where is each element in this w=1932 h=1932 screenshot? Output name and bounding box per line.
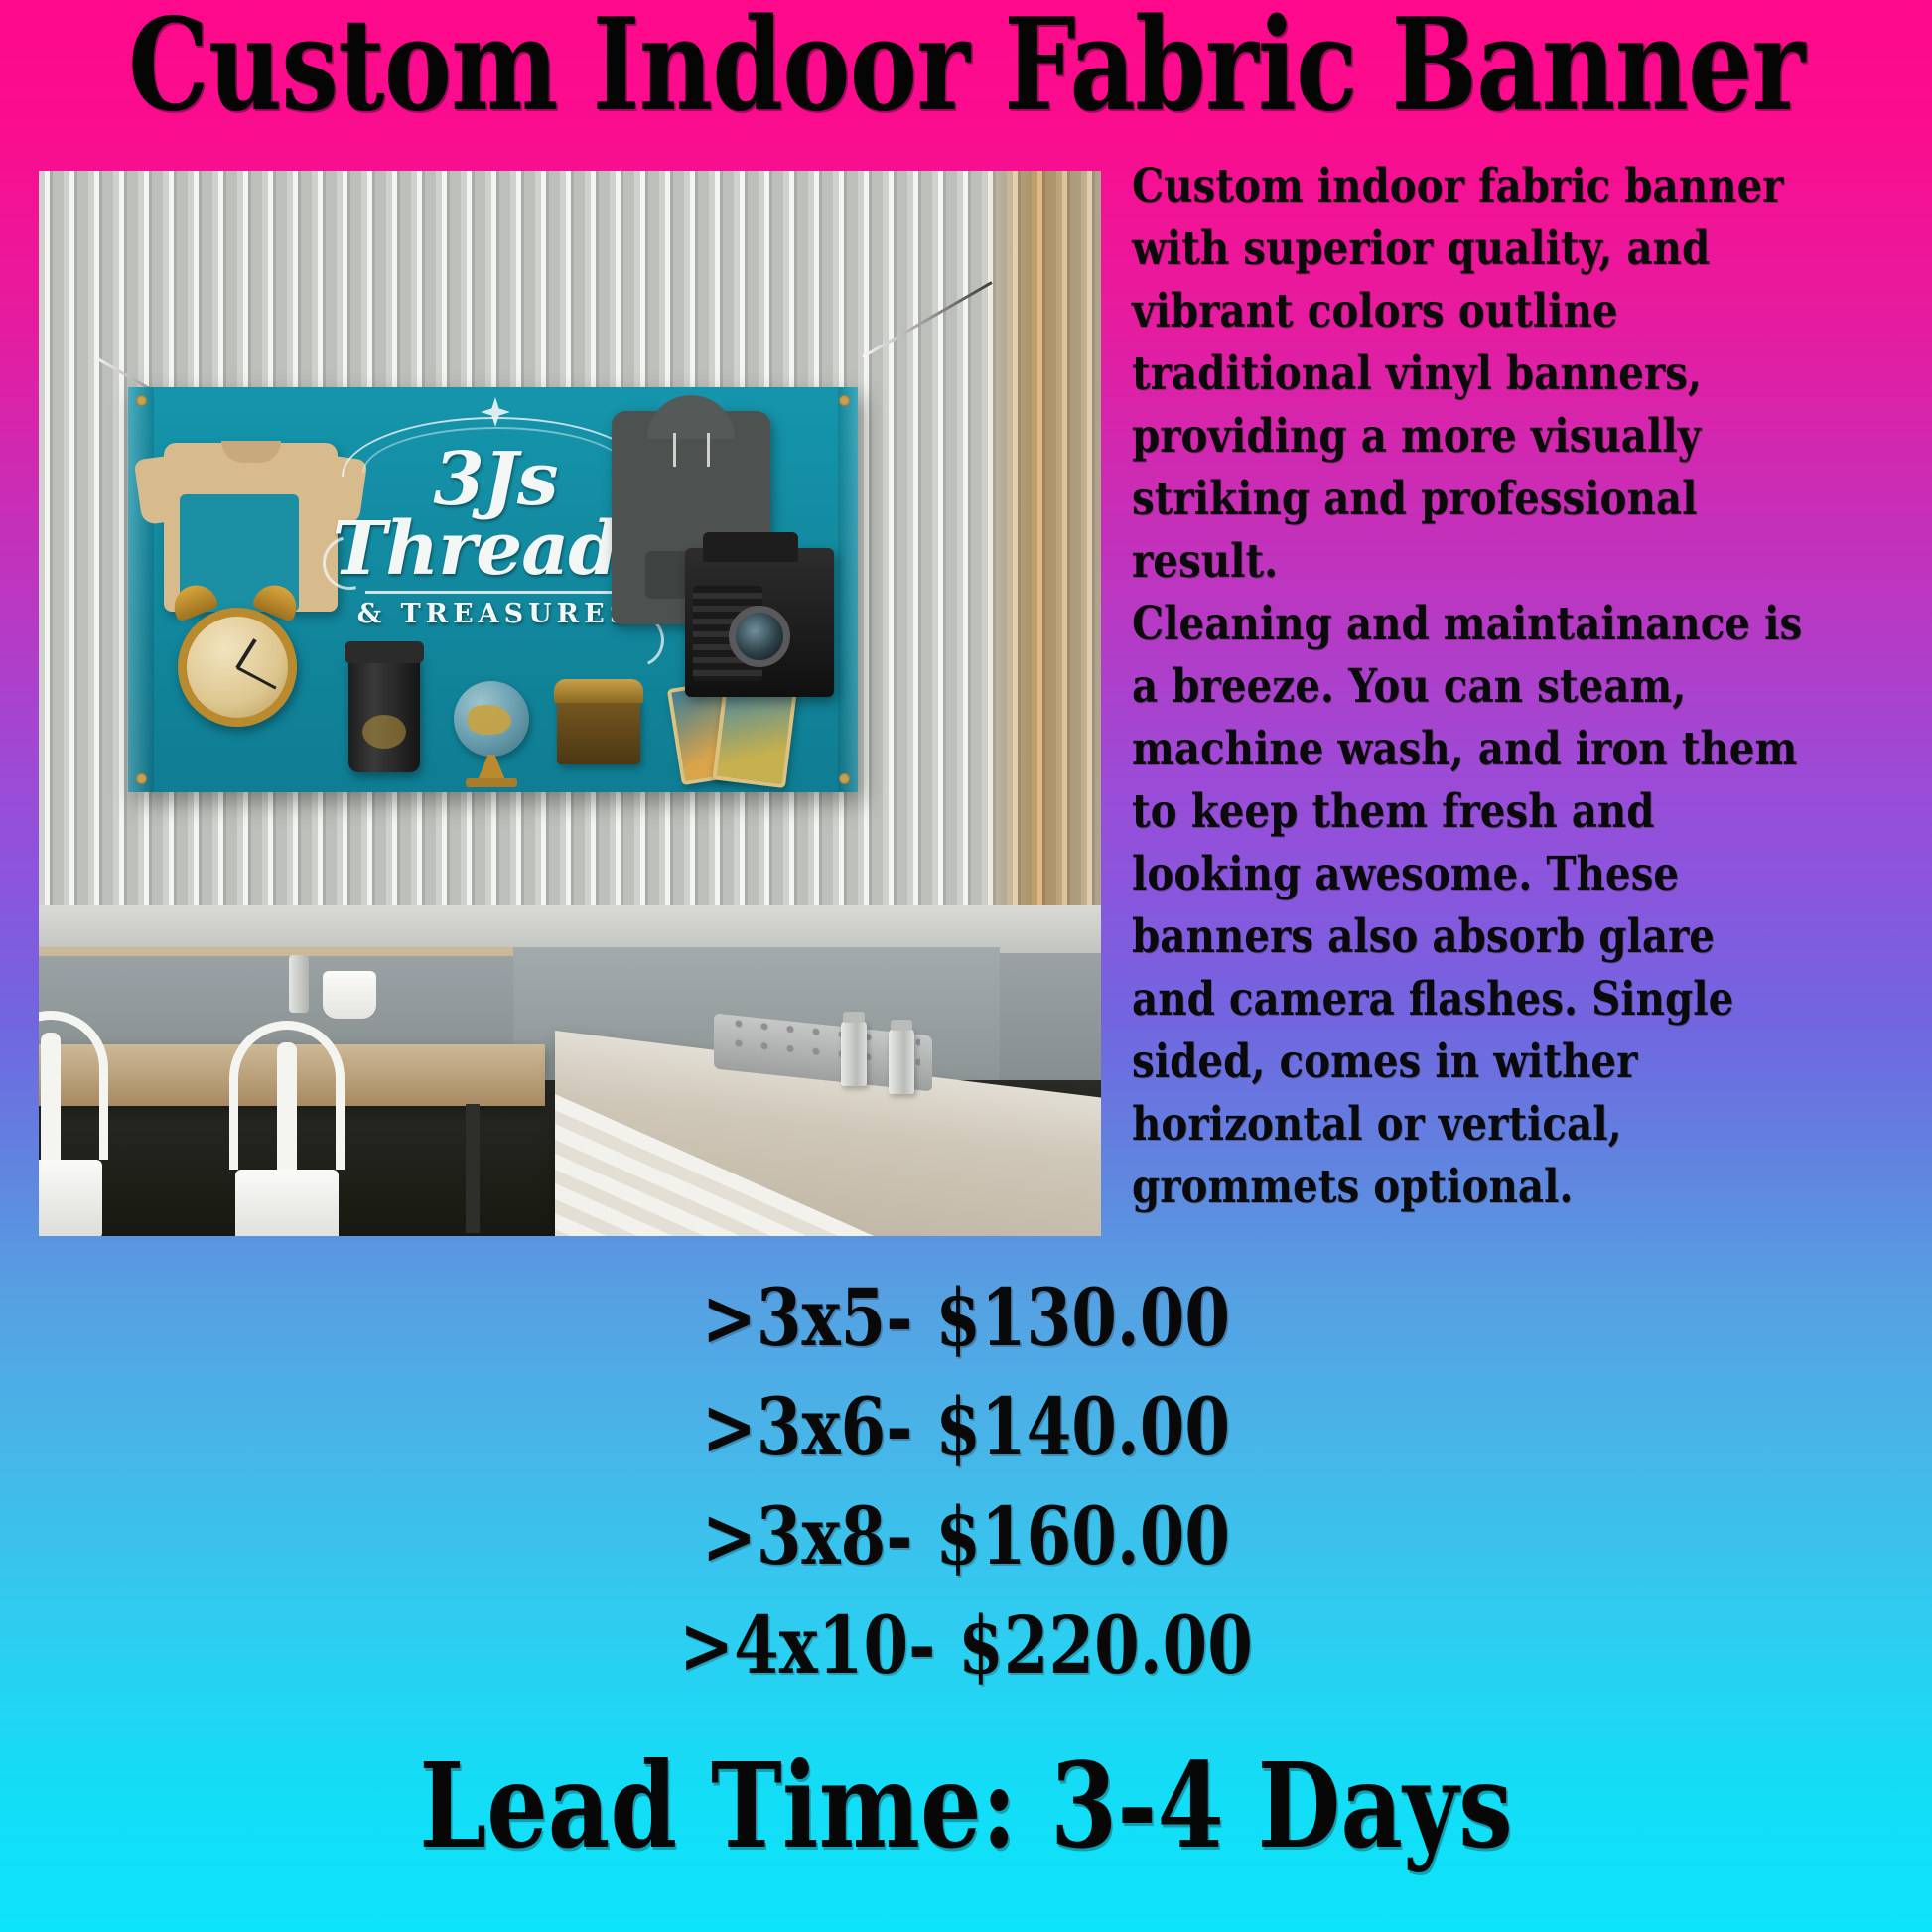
shaker-cap	[843, 1012, 865, 1023]
chest-lid	[554, 679, 643, 703]
globe-base	[466, 778, 517, 787]
description-paragraph-1: Custom indoor fabric banner with superio…	[1132, 155, 1806, 593]
chair-seat	[235, 1170, 339, 1236]
grommet-top-right	[839, 395, 850, 406]
grommet-bottom-left	[136, 773, 147, 784]
pricing-list: >3x5- $130.00 >3x6- $140.00 >3x8- $160.0…	[0, 1263, 1932, 1700]
pepper-shaker-counter	[841, 1021, 867, 1086]
vintage-bellows-camera	[685, 548, 834, 697]
desk-globe	[454, 681, 529, 757]
product-photo: 3Js Threads & TREASURES	[39, 171, 1101, 1236]
tumbler-logo-badge	[362, 715, 406, 749]
grommet-top-left	[136, 395, 147, 406]
banner-brand-name: 3Js Threads	[332, 445, 659, 585]
product-description: Custom indoor fabric banner with superio…	[1132, 155, 1916, 1218]
clock-hour-hand	[235, 638, 256, 669]
metal-chair-left	[39, 1011, 108, 1236]
page-title-bar: Custom Indoor Fabric Banner	[0, 0, 1932, 131]
banner-fold-left	[128, 387, 154, 792]
description-paragraph-2: Cleaning and maintainance is a breeze. Y…	[1132, 593, 1806, 1218]
wall-ledge	[39, 905, 1101, 953]
banner-fold-right	[838, 387, 858, 792]
camera-lens	[729, 606, 790, 667]
wall-warm-light	[982, 171, 1101, 905]
hoodie-drawstring-left	[673, 433, 676, 467]
vintage-alarm-clock	[178, 608, 297, 727]
shaker-cap	[891, 1020, 912, 1031]
pepper-shaker-table	[289, 955, 309, 1013]
tshirt-collar	[221, 441, 281, 463]
price-option-3x6: >3x6- $140.00	[174, 1372, 1758, 1481]
chair-slat	[41, 1033, 61, 1177]
travel-tumbler	[348, 653, 420, 772]
banner-logo: 3Js Threads & TREASURES	[332, 445, 659, 629]
page-title: Custom Indoor Fabric Banner	[128, 2, 1805, 129]
lead-time-text: Lead Time: 3-4 Days	[174, 1747, 1758, 1864]
globe-stand	[478, 755, 505, 780]
clock-minute-hand	[236, 666, 276, 689]
booth-bench-top-rail	[39, 947, 525, 956]
treasure-chest	[557, 695, 640, 764]
price-option-3x5: >3x5- $130.00	[174, 1263, 1758, 1372]
metal-chair-right	[229, 1021, 345, 1236]
camera-viewfinder	[703, 532, 798, 562]
price-option-3x8: >3x8- $160.00	[174, 1481, 1758, 1590]
price-option-4x10: >4x10- $220.00	[174, 1590, 1758, 1700]
tumbler-lid	[345, 641, 424, 663]
chair-slat	[277, 1042, 297, 1187]
grommet-bottom-right	[839, 773, 850, 784]
table-leg	[466, 1104, 480, 1233]
trading-card-front	[712, 683, 796, 788]
hanging-fabric-banner: 3Js Threads & TREASURES	[128, 387, 858, 792]
hoodie-drawstring-right	[707, 433, 710, 467]
banner-tagline: & TREASURES	[332, 599, 659, 629]
chair-seat	[39, 1160, 102, 1236]
salt-shaker-counter	[889, 1029, 914, 1094]
paper-cup	[323, 971, 376, 1019]
